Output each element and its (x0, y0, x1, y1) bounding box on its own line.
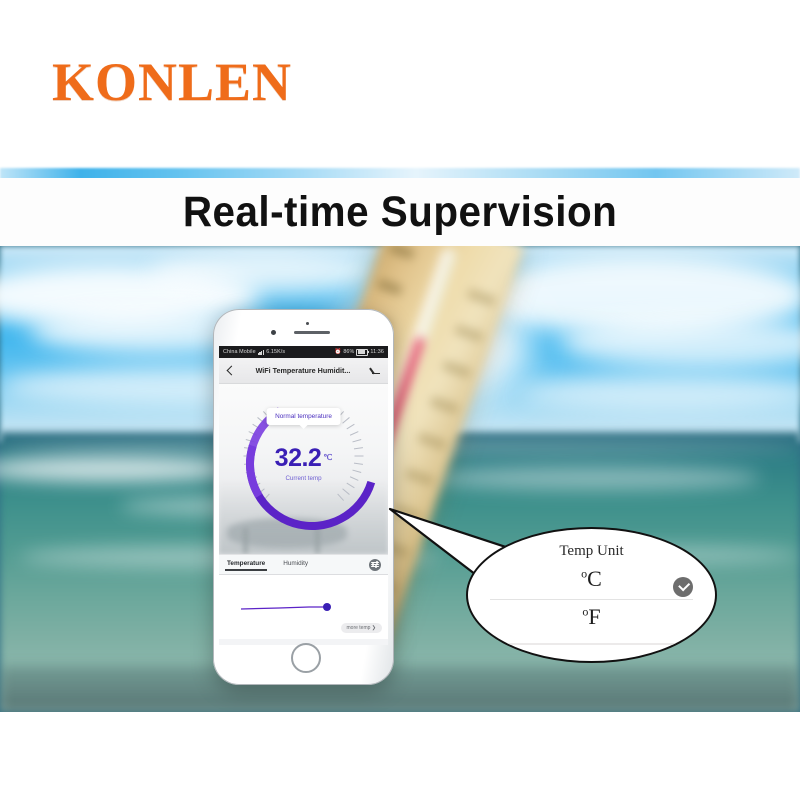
cloud (150, 252, 380, 292)
temp-unit-callout: Temp Unit oC oF (466, 527, 717, 663)
status-tooltip: Normal temperature (266, 408, 341, 425)
temp-unit-option-fahrenheit[interactable]: oF (468, 604, 715, 630)
fahrenheit-label: F (588, 604, 600, 629)
wave-foam (430, 466, 760, 490)
more-temp-button[interactable]: more temp ❯ (341, 623, 382, 633)
cloud (520, 376, 800, 410)
battery-percent-label: 86% (343, 349, 354, 355)
celsius-label: C (587, 566, 602, 591)
clock-label: 11:36 (370, 349, 384, 355)
callout-bottom-divider (504, 643, 679, 645)
smartphone-mockup: China Mobile 6.15K/s ⏰ 86% 11:36 WiFi Te… (213, 309, 394, 685)
title-band: Real-time Supervision (0, 178, 800, 246)
temperature-gauge-panel: Normal temperature 32.2℃ Current temp (219, 384, 388, 554)
tab-temperature[interactable]: Temperature (227, 560, 265, 570)
status-bar: China Mobile 6.15K/s ⏰ 86% 11:36 (219, 346, 388, 358)
callout-title: Temp Unit (468, 543, 715, 560)
carrier-label: China Mobile (223, 349, 256, 355)
brand-logo: KONLEN (52, 55, 292, 109)
back-arrow-icon[interactable] (226, 366, 235, 375)
earpiece-speaker (294, 331, 330, 334)
signal-bars-icon (258, 350, 265, 355)
app-bar: WiFi Temperature Humidit... (219, 358, 388, 384)
temperature-caption: Current temp (219, 475, 388, 482)
temperature-readout: 32.2℃ Current temp (219, 446, 388, 482)
temperature-chart: more temp ❯ (219, 575, 388, 639)
alarm-icon: ⏰ (335, 349, 342, 355)
temperature-unit: ℃ (323, 453, 332, 462)
page-title: Real-time Supervision (183, 188, 617, 237)
front-camera-icon (271, 330, 276, 335)
network-speed-label: 6.15K/s (266, 349, 285, 355)
check-circle-icon[interactable] (673, 577, 693, 597)
temperature-value: 32.2 (275, 444, 322, 472)
battery-icon (356, 349, 368, 356)
callout-divider (490, 599, 693, 600)
logo-band: KONLEN (0, 0, 800, 170)
phone-screen: China Mobile 6.15K/s ⏰ 86% 11:36 WiFi Te… (219, 346, 388, 645)
tab-bar: Temperature Humidity (219, 554, 388, 575)
home-button[interactable] (291, 643, 321, 673)
bottom-whitespace (0, 712, 800, 800)
shoreline-shadow (0, 666, 800, 712)
pencil-icon[interactable] (371, 366, 381, 376)
product-banner-page: KONLEN Real-time Supervision (0, 0, 800, 800)
sliders-icon[interactable] (369, 559, 381, 571)
tab-humidity[interactable]: Humidity (283, 560, 308, 570)
app-bar-title: WiFi Temperature Humidit... (241, 366, 365, 375)
proximity-sensor-icon (306, 322, 309, 325)
